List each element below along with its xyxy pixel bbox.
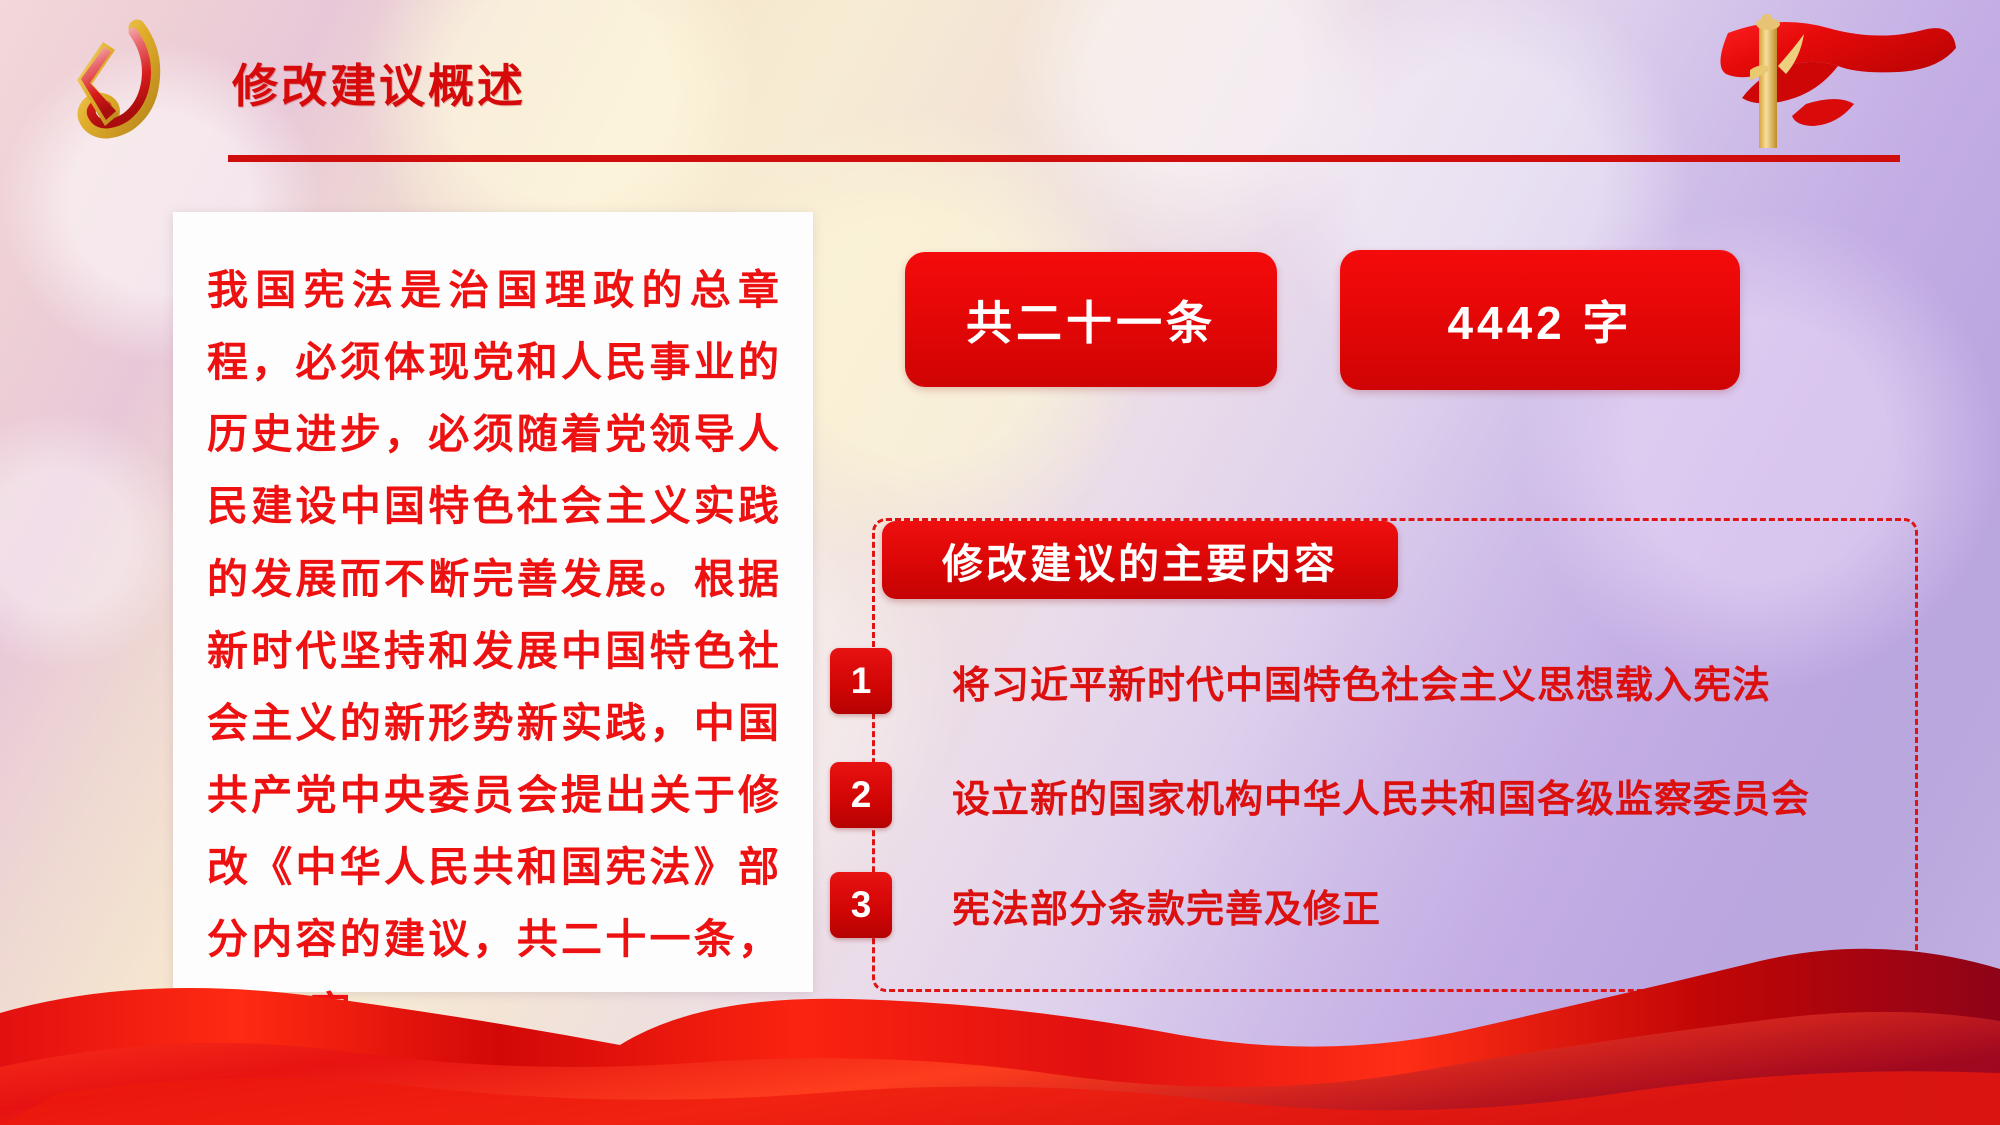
section-heading-badge: 修改建议的主要内容 [882,521,1398,599]
page-title: 修改建议概述 [232,50,526,116]
red-flag-huabiao-icon [1688,8,1958,153]
list-item-label: 设立新的国家机构中华人民共和国各级监察委员会 [952,768,1810,823]
overview-text-panel: 我国宪法是治国理政的总章程，必须体现党和人民事业的历史进步，必须随着党领导人民建… [173,212,813,992]
stat-pill-articles[interactable]: 共二十一条 [905,252,1277,387]
overview-text: 我国宪法是治国理政的总章程，必须体现党和人民事业的历史进步，必须随着党领导人民建… [173,212,813,1048]
party-emblem-icon [55,18,185,143]
list-item-label: 将习近平新时代中国特色社会主义思想载入宪法 [952,654,1771,709]
title-underline [228,155,1900,162]
list-item[interactable]: 2 设立新的国家机构中华人民共和国各级监察委员会 [830,762,1810,828]
list-item[interactable]: 1 将习近平新时代中国特色社会主义思想载入宪法 [830,648,1771,714]
list-item-number: 1 [830,648,892,714]
red-silk-ribbon-icon [0,925,2000,1125]
slide-canvas: 修改建议概述 [0,0,2000,1125]
list-item-number: 2 [830,762,892,828]
slide-header: 修改建议概述 [0,0,2000,160]
stat-pill-wordcount[interactable]: 4442 字 [1340,250,1740,390]
